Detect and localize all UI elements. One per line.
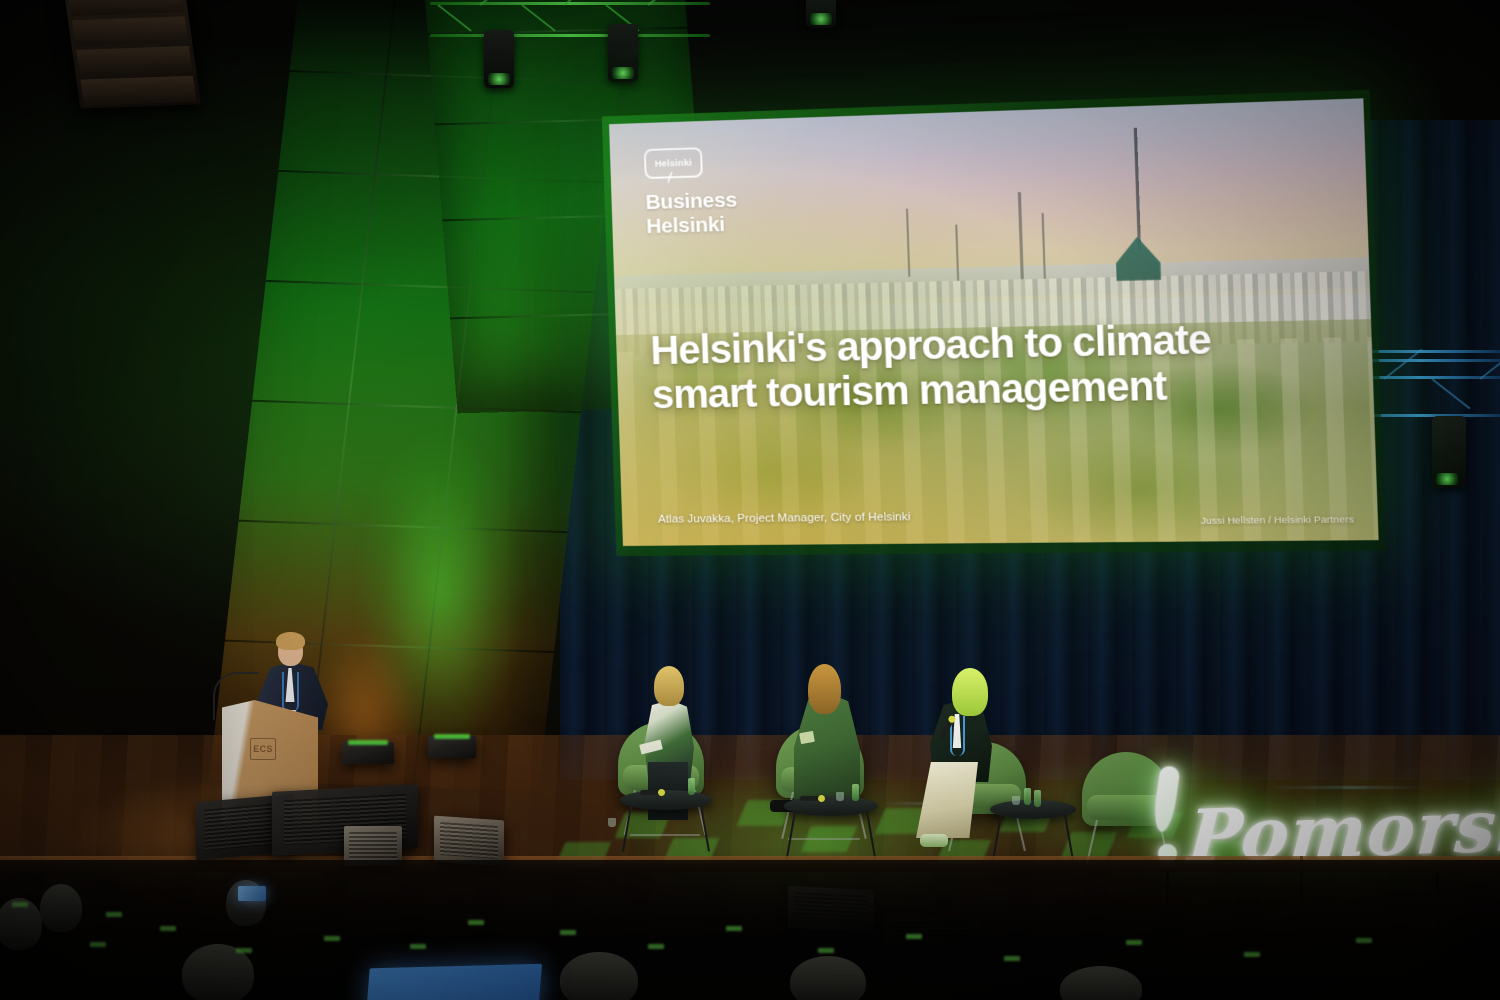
audience-member bbox=[790, 956, 866, 1000]
stage-monitor bbox=[428, 736, 476, 758]
monitor-indicator-light bbox=[348, 740, 388, 745]
water-bottle bbox=[1034, 790, 1041, 807]
speaker-lanyard bbox=[282, 672, 299, 712]
podium-logo: ECS bbox=[250, 738, 276, 760]
speaker-hair bbox=[276, 632, 305, 650]
moving-head-light-icon bbox=[608, 24, 638, 82]
moving-head-light-icon bbox=[806, 0, 836, 28]
exclamation-mark-neon-icon bbox=[1152, 765, 1181, 833]
stage-monitor bbox=[342, 742, 394, 764]
laptop-screen-icon bbox=[366, 964, 542, 1000]
water-glass bbox=[836, 792, 844, 801]
side-table bbox=[620, 790, 712, 810]
business-helsinki-wordmark: Business Helsinki bbox=[645, 170, 1335, 239]
audience-member bbox=[560, 952, 638, 1000]
panelist-3-hair bbox=[952, 668, 988, 716]
line-array-speaker-icon bbox=[63, 0, 201, 108]
water-bottle bbox=[688, 778, 695, 795]
slide-photo-credit: Jussi Hellsten / Helsinki Partners bbox=[1201, 514, 1354, 527]
panelist-3-shoes bbox=[920, 834, 948, 847]
handheld-microphone-icon bbox=[640, 790, 662, 795]
monitor-indicator-light bbox=[434, 734, 470, 739]
smartphone-screen-icon bbox=[238, 886, 266, 901]
slide-title: Helsinki's approach to climate smart tou… bbox=[650, 316, 1283, 418]
water-glass bbox=[1012, 796, 1020, 805]
water-bottle bbox=[1024, 788, 1031, 805]
side-table bbox=[784, 796, 878, 816]
conference-stage-photo: Helsinki Business Helsinki Helsinki's ap… bbox=[0, 0, 1500, 1000]
slide-presenter-line: Atlas Juvakka, Project Manager, City of … bbox=[658, 511, 911, 525]
water-bottle bbox=[852, 784, 859, 801]
lighting-truss-icon bbox=[430, 0, 710, 40]
panelist-2-hair bbox=[808, 664, 841, 714]
panelist-1-hair bbox=[654, 666, 684, 706]
side-table bbox=[990, 800, 1076, 819]
water-glass bbox=[608, 818, 616, 827]
moving-head-light-icon bbox=[484, 30, 514, 88]
projection-screen: Helsinki Business Helsinki Helsinki's ap… bbox=[609, 98, 1379, 546]
helsinki-logo-text: Helsinki bbox=[654, 157, 692, 169]
presentation-slide: Helsinki Business Helsinki Helsinki's ap… bbox=[609, 98, 1379, 546]
helsinki-speech-bubble-logo: Helsinki bbox=[644, 147, 703, 179]
audience-member bbox=[40, 884, 82, 932]
moving-head-light-icon bbox=[1432, 416, 1466, 488]
handheld-microphone-icon bbox=[800, 796, 822, 801]
stage-monitor bbox=[434, 816, 504, 867]
